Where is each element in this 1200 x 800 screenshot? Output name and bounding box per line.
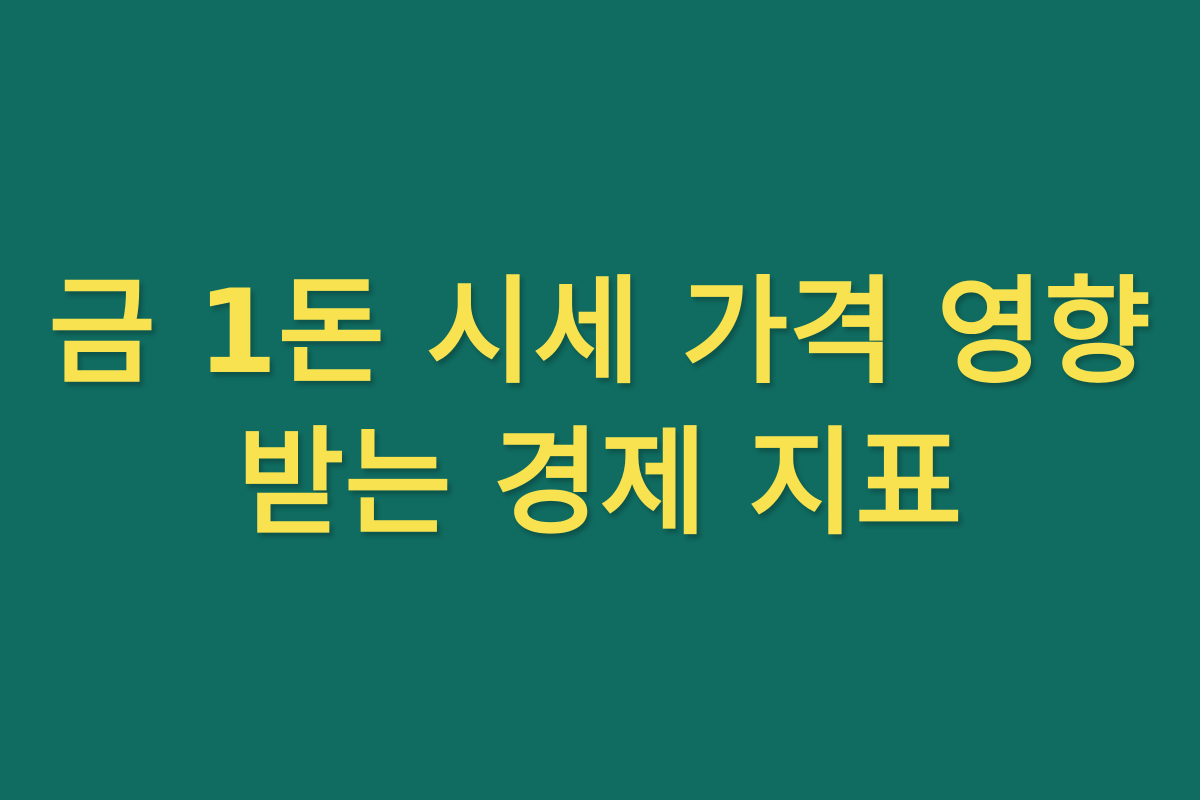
thumbnail-banner: 금 1돈 시세 가격 영향 받는 경제 지표 [0, 0, 1200, 800]
title-line-1: 금 1돈 시세 가격 영향 [49, 258, 1152, 409]
title-line-2: 받는 경제 지표 [237, 409, 962, 560]
page-title: 금 1돈 시세 가격 영향 받는 경제 지표 [40, 258, 1160, 560]
